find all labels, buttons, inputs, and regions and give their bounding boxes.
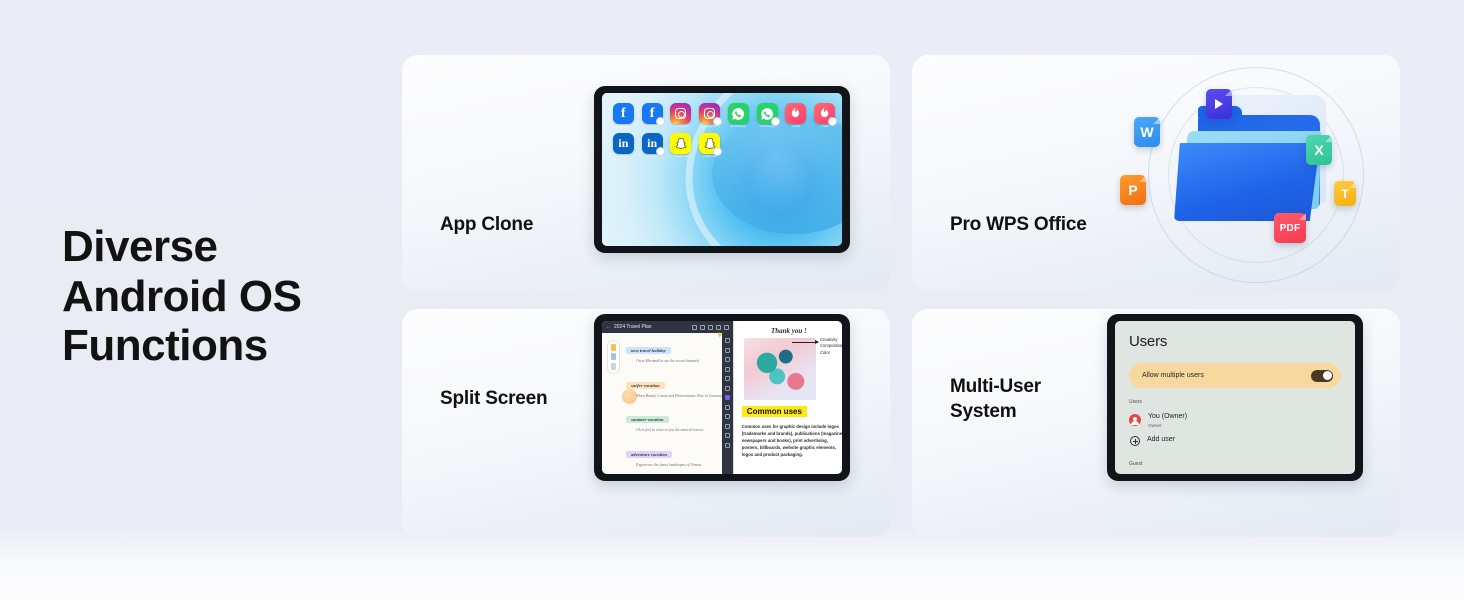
annotation-text: Creativity Composition Color	[820, 337, 842, 356]
app-item[interactable]: WhatsApp	[725, 103, 752, 128]
color-tool-icon[interactable]	[725, 414, 730, 419]
notes-document-title: 2024 Travel Plan	[614, 324, 652, 330]
card-title-multi-user: Multi-User System	[950, 375, 1041, 424]
feature-card-split-screen[interactable]: Split Screen ← 2024 Travel Plan	[402, 309, 890, 537]
fullscreen-icon[interactable]	[724, 325, 729, 330]
instagram-clone-icon[interactable]	[699, 103, 720, 124]
excel-file-icon: X	[1306, 135, 1332, 165]
tablet-device-app-clone: f Facebook f Facebook Instagram Instagra…	[594, 86, 850, 253]
app-item[interactable]: f Facebook	[639, 103, 666, 128]
feature-card-app-clone[interactable]: App Clone f Facebook f Facebook I	[402, 55, 890, 291]
app-item[interactable]: WhatsApp	[754, 103, 781, 128]
page-title-line-3: Functions	[62, 321, 392, 371]
folder-front-layer	[1174, 143, 1320, 221]
tinder-clone-icon[interactable]	[814, 103, 835, 124]
powerpoint-file-icon: P	[1120, 175, 1146, 205]
page-title-line-2: Android OS	[62, 272, 392, 322]
note-heading: surfer vacation	[626, 382, 665, 389]
document-heading: Thank you !	[742, 327, 836, 335]
wps-illustration: W P X T PDF	[1120, 61, 1390, 289]
card-title-wps-office: Pro WPS Office	[950, 213, 1087, 238]
split-pane-notes[interactable]: ← 2024 Travel Plan	[602, 321, 733, 474]
app-item[interactable]: Snapchat	[668, 133, 695, 158]
highlight-tool-icon[interactable]	[725, 395, 730, 400]
card-title-split-screen: Split Screen	[440, 387, 547, 412]
text-file-icon: T	[1334, 181, 1356, 206]
guest-section-header: Guest	[1129, 461, 1142, 467]
tablet-screen-split: ← 2024 Travel Plan	[602, 321, 842, 474]
toggle-knob	[1323, 371, 1332, 380]
feature-card-wps-office[interactable]: Pro WPS Office * The WPS office feature …	[912, 55, 1400, 291]
snapchat-clone-icon[interactable]	[699, 133, 720, 154]
shape-tool-icon[interactable]	[725, 357, 730, 362]
back-arrow-icon[interactable]: ←	[606, 324, 611, 330]
pen-blue-icon[interactable]	[611, 353, 616, 360]
snapchat-icon[interactable]	[670, 133, 691, 154]
users-section-header: Users	[1129, 399, 1341, 405]
app-item[interactable]: Instagram	[668, 103, 695, 128]
circle-tool-icon[interactable]	[725, 367, 730, 372]
note-heading: adventure vacation	[626, 451, 672, 458]
pen-grey-icon[interactable]	[611, 363, 616, 370]
app-item[interactable]: Snapchat	[696, 133, 723, 158]
word-file-icon: W	[1134, 117, 1160, 147]
text-tool-icon[interactable]	[725, 338, 730, 343]
note-heading: new travel holiday	[626, 347, 671, 354]
app-item[interactable]: in LinkedIn	[610, 133, 637, 158]
tablet-device-split-screen: ← 2024 Travel Plan	[594, 314, 850, 481]
user-role: Owner	[1148, 423, 1187, 428]
share-icon[interactable]	[716, 325, 721, 330]
app-item[interactable]: in LinkedIn	[639, 133, 666, 158]
tablet-screen-app-clone: f Facebook f Facebook Instagram Instagra…	[602, 93, 842, 246]
feature-card-multi-user[interactable]: Multi-User System Users Allow multiple u…	[912, 309, 1400, 537]
notes-side-toolbar[interactable]	[722, 333, 733, 474]
image-tool-icon[interactable]	[725, 376, 730, 381]
arrow-icon	[792, 342, 818, 343]
play-triangle-icon	[1215, 99, 1223, 109]
notes-toolbar-actions[interactable]	[692, 325, 729, 330]
user-name: You (Owner)	[1148, 413, 1187, 422]
user-avatar-icon	[1129, 414, 1141, 426]
list-tool-icon[interactable]	[725, 348, 730, 353]
add-user-icon	[1130, 436, 1140, 446]
app-item[interactable]: Tinder	[783, 103, 810, 128]
page-title-line-1: Diverse	[62, 222, 392, 272]
eraser-tool-icon[interactable]	[725, 405, 730, 410]
scissors-tool-icon[interactable]	[725, 424, 730, 429]
undo-icon[interactable]	[692, 325, 697, 330]
app-item[interactable]: Instagram	[696, 103, 723, 128]
pdf-file-icon: PDF	[1274, 213, 1306, 243]
allow-multiple-users-toggle[interactable]	[1311, 370, 1333, 382]
add-user-row[interactable]: Add user	[1129, 436, 1341, 446]
video-file-icon	[1206, 89, 1232, 119]
split-screen-layout: ← 2024 Travel Plan	[602, 321, 842, 474]
pen-tool-palette[interactable]	[607, 340, 620, 374]
tablet-device-multi-user: Users Allow multiple users Users You (Ow…	[1107, 314, 1363, 481]
redo-icon[interactable]	[700, 325, 705, 330]
add-icon[interactable]	[708, 325, 713, 330]
facebook-clone-icon[interactable]: f	[642, 103, 663, 124]
allow-multiple-users-row[interactable]: Allow multiple users	[1129, 363, 1341, 388]
user-text-group: You (Owner) Owner	[1148, 413, 1187, 428]
page-title: Diverse Android OS Functions	[62, 222, 392, 371]
note-heading: summer vacation	[626, 416, 669, 423]
notes-app-toolbar: ← 2024 Travel Plan	[602, 321, 733, 333]
feature-card-grid: App Clone f Facebook f Facebook I	[402, 55, 1400, 537]
mic-tool-icon[interactable]	[725, 443, 730, 448]
user-list-item-owner[interactable]: You (Owner) Owner	[1129, 413, 1341, 428]
facebook-icon[interactable]: f	[613, 103, 634, 124]
document-collage-image	[744, 338, 816, 400]
home-screen-app-grid: f Facebook f Facebook Instagram Instagra…	[610, 103, 838, 159]
settings-page-title: Users	[1129, 333, 1341, 350]
allow-multiple-users-label: Allow multiple users	[1142, 372, 1204, 379]
document-highlight-heading: Common uses	[742, 406, 807, 417]
linkedin-icon[interactable]: in	[613, 133, 634, 154]
tinder-icon[interactable]	[785, 103, 806, 124]
add-user-label: Add user	[1147, 436, 1175, 445]
users-settings-screen: Users Allow multiple users Users You (Ow…	[1115, 321, 1355, 474]
app-item[interactable]: f Facebook	[610, 103, 637, 128]
tablet-screen-users: Users Allow multiple users Users You (Ow…	[1115, 321, 1355, 474]
split-pane-document[interactable]: Thank you ! Creativity Composition Color…	[733, 321, 842, 474]
pen-yellow-icon[interactable]	[611, 344, 616, 351]
layers-tool-icon[interactable]	[725, 433, 730, 438]
document-body-text: Common uses for graphic design include l…	[742, 424, 842, 458]
card-title-app-clone: App Clone	[440, 213, 533, 238]
whatsapp-icon[interactable]	[728, 103, 749, 124]
instagram-icon[interactable]	[670, 103, 691, 124]
linkedin-clone-icon[interactable]: in	[642, 133, 663, 154]
whatsapp-clone-icon[interactable]	[757, 103, 778, 124]
sticker-tool-icon[interactable]	[725, 386, 730, 391]
app-item[interactable]: Tinder	[811, 103, 838, 128]
